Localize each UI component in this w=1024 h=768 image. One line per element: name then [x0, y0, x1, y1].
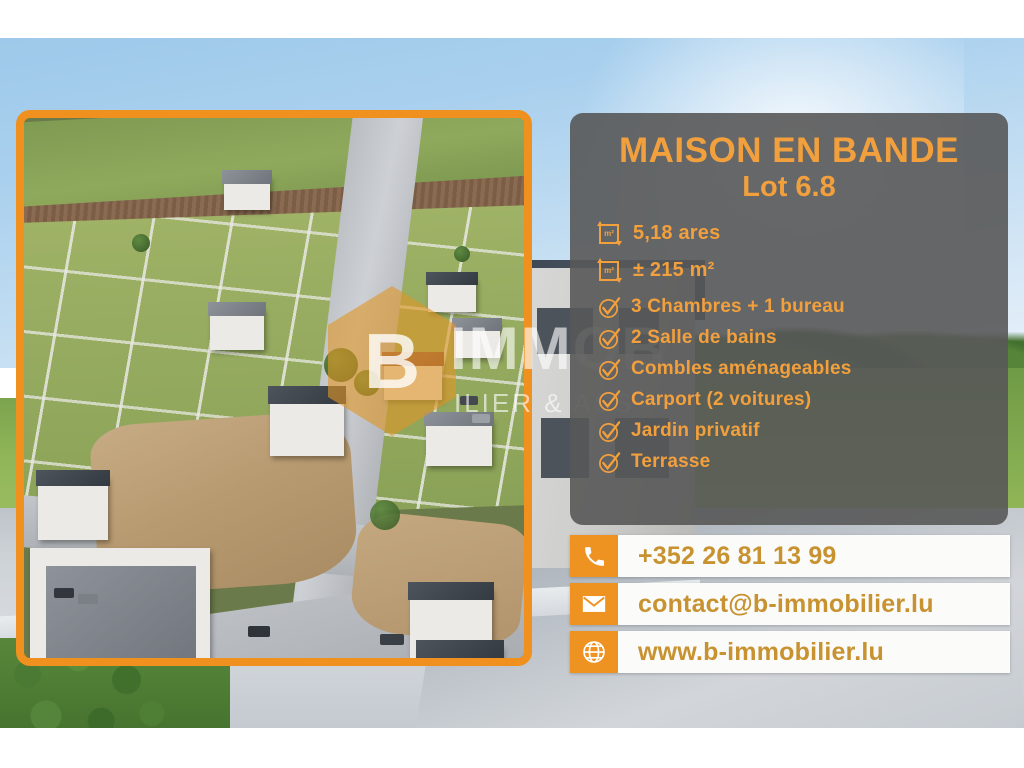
- spec-value-living-area: ± 215 m²: [633, 259, 715, 282]
- tree: [132, 234, 150, 252]
- phone-icon: [570, 535, 618, 577]
- contact-row-phone[interactable]: +352 26 81 13 99: [570, 535, 1010, 577]
- house-roof: [268, 386, 346, 404]
- page-title: MAISON EN BANDE: [588, 133, 990, 169]
- tree: [370, 500, 400, 530]
- flat-roof-surface: [46, 566, 196, 658]
- house-roof: [416, 640, 504, 658]
- area-icon-unit: m²: [604, 230, 614, 238]
- feature-item: Jardin privatif: [598, 420, 990, 443]
- car: [460, 396, 478, 405]
- aerial-photo: [24, 118, 524, 658]
- car: [78, 594, 98, 604]
- feature-item: Carport (2 voitures): [598, 389, 990, 412]
- car: [380, 634, 404, 645]
- tree: [454, 246, 470, 262]
- house-roof: [408, 582, 494, 600]
- car: [472, 414, 490, 423]
- feature-list: 3 Chambres + 1 bureau 2 Salle de bains C…: [598, 296, 990, 474]
- spec-value-land-area: 5,18 ares: [633, 222, 720, 245]
- contact-row-website[interactable]: www.b-immobilier.lu: [570, 631, 1010, 673]
- feature-item: 2 Salle de bains: [598, 327, 990, 350]
- spec-row-land-area: m² 5,18 ares: [596, 221, 990, 247]
- tree: [324, 348, 358, 382]
- area-icon: m²: [596, 221, 622, 247]
- feature-label: 2 Salle de bains: [631, 327, 777, 349]
- check-circle-icon: [598, 358, 621, 381]
- mail-icon: [570, 583, 618, 625]
- check-circle-icon: [598, 420, 621, 443]
- house-roof: [426, 272, 478, 285]
- listing-flyer: B IMMOB ILIER & ASS MAISON EN BANDE Lot …: [0, 0, 1024, 768]
- info-panel: MAISON EN BANDE Lot 6.8 m² 5,18 ares m² …: [570, 113, 1008, 525]
- feature-item: Terrasse: [598, 451, 990, 474]
- feature-label: Jardin privatif: [631, 420, 760, 442]
- check-circle-icon: [598, 389, 621, 412]
- contact-value-phone: +352 26 81 13 99: [618, 535, 1010, 577]
- check-circle-icon: [598, 296, 621, 319]
- house-roof: [222, 170, 272, 184]
- feature-label: Combles aménageables: [631, 358, 851, 380]
- aerial-photo-frame: [16, 110, 532, 666]
- house-roof: [382, 352, 444, 366]
- contact-value-website: www.b-immobilier.lu: [618, 631, 1010, 673]
- house-roof: [452, 318, 502, 331]
- spec-row-living-area: m² ± 215 m²: [596, 258, 990, 284]
- car: [54, 588, 74, 598]
- area-icon: m²: [596, 258, 622, 284]
- feature-item: Combles aménageables: [598, 358, 990, 381]
- car: [248, 626, 270, 637]
- check-circle-icon: [598, 327, 621, 350]
- contact-value-email: contact@b-immobilier.lu: [618, 583, 1010, 625]
- tree: [354, 370, 380, 396]
- check-circle-icon: [598, 451, 621, 474]
- lot-subtitle: Lot 6.8: [588, 171, 990, 204]
- feature-label: 3 Chambres + 1 bureau: [631, 296, 845, 318]
- letterbox-top: [0, 0, 1024, 38]
- spec-list: m² 5,18 ares m² ± 215 m²: [596, 221, 990, 284]
- feature-label: Carport (2 voitures): [631, 389, 811, 411]
- feature-label: Terrasse: [631, 451, 710, 473]
- globe-icon: [570, 631, 618, 673]
- contact-row-email[interactable]: contact@b-immobilier.lu: [570, 583, 1010, 625]
- area-icon-unit: m²: [604, 267, 614, 275]
- house-roof: [36, 470, 110, 486]
- contact-bars: +352 26 81 13 99 contact@b-immobilier.lu…: [570, 535, 1010, 679]
- letterbox-bottom: [0, 728, 1024, 768]
- house-roof: [208, 302, 266, 316]
- feature-item: 3 Chambres + 1 bureau: [598, 296, 990, 319]
